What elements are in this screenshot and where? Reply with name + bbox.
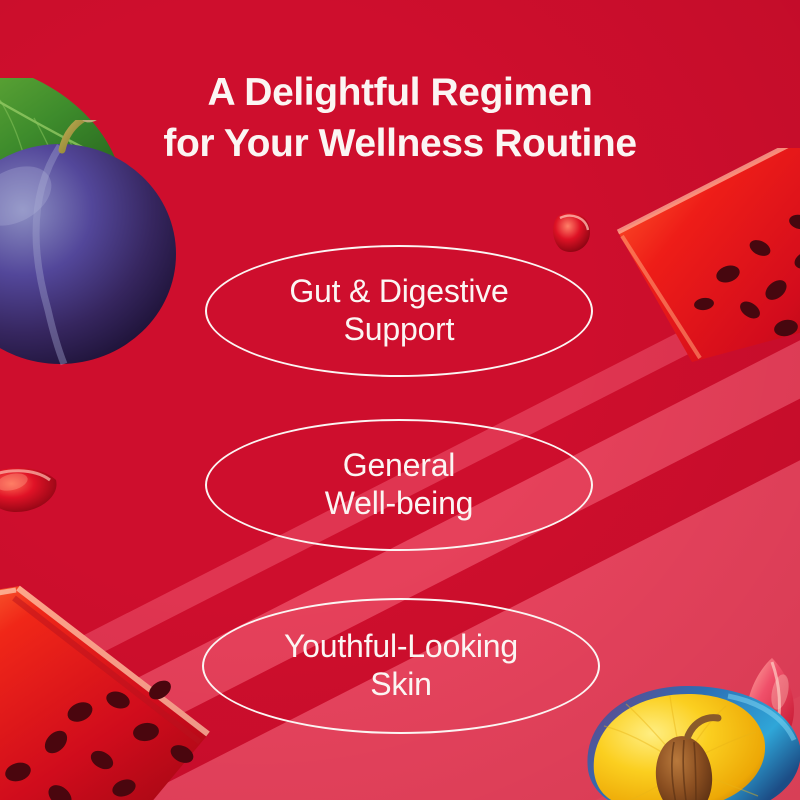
benefit-label: Youthful-Looking Skin xyxy=(258,628,544,704)
benefit-line-1: Gut & Digestive xyxy=(289,273,508,309)
halved-plum-icon xyxy=(578,684,800,800)
benefit-line-2: Well-being xyxy=(325,485,474,521)
promo-banner: A Delightful Regimen for Your Wellness R… xyxy=(0,0,800,800)
pomegranate-seed-icon xyxy=(0,458,64,518)
benefit-pill-general-well-being[interactable]: General Well-being xyxy=(205,419,593,551)
headline-line-1: A Delightful Regimen xyxy=(208,71,593,114)
benefit-line-1: General xyxy=(343,447,455,483)
pomegranate-seed-icon xyxy=(746,658,798,744)
benefit-pill-gut-digestive-support[interactable]: Gut & Digestive Support xyxy=(205,245,593,377)
headline-line-2: for Your Wellness Routine xyxy=(0,119,800,170)
benefit-line-2: Support xyxy=(344,311,455,347)
benefit-label: General Well-being xyxy=(299,447,500,523)
benefit-line-1: Youthful-Looking xyxy=(284,628,518,664)
benefit-pill-youthful-looking-skin[interactable]: Youthful-Looking Skin xyxy=(202,598,600,734)
benefit-label: Gut & Digestive Support xyxy=(263,273,534,349)
watermelon-slice-icon xyxy=(600,148,800,378)
pomegranate-seed-icon xyxy=(552,208,594,256)
benefit-line-2: Skin xyxy=(370,666,431,702)
page-title: A Delightful Regimen for Your Wellness R… xyxy=(0,68,800,169)
